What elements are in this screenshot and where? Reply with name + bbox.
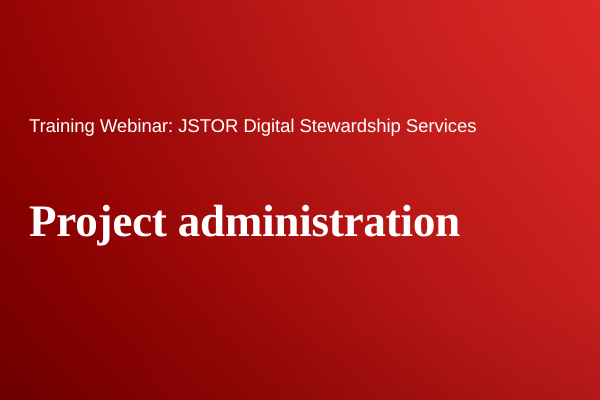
slide-title: Project administration — [29, 197, 460, 246]
slide-eyebrow-text: Training Webinar: JSTOR Digital Stewards… — [29, 115, 476, 136]
presentation-slide: Training Webinar: JSTOR Digital Stewards… — [0, 0, 600, 400]
slide-content: Training Webinar: JSTOR Digital Stewards… — [0, 0, 600, 400]
